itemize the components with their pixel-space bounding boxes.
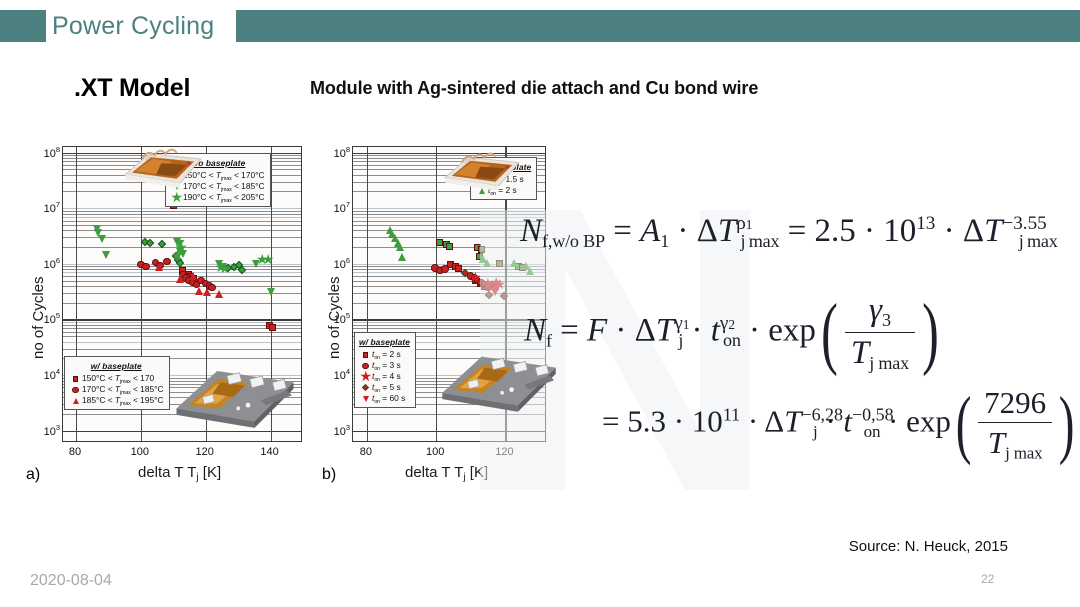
legend-item: ton = 60 s xyxy=(359,393,410,404)
panel-letter-b: b) xyxy=(322,466,336,484)
banner-title: Power Cycling xyxy=(46,14,214,39)
data-point xyxy=(195,287,203,295)
gridline xyxy=(63,221,301,222)
y-axis-tick: 108 xyxy=(28,145,60,160)
y-axis-tick: 103 xyxy=(318,423,350,438)
chart-panel-a: no of Cycles delta T Tj [K] a) w/o basep… xyxy=(22,132,322,492)
data-point xyxy=(491,288,499,296)
gridline xyxy=(353,230,545,231)
equation-3: = 5.3 · 1011 · ΔT−6,28j · t−0,58on · exp… xyxy=(602,381,1079,468)
y-axis-tick: 107 xyxy=(318,200,350,215)
data-point xyxy=(510,259,518,267)
page-subtitle: Module with Ag-sintered die attach and C… xyxy=(310,78,758,99)
equation-1: Nf,w/o BP = A1 · ΔTρ1j max = 2.5 · 1013 … xyxy=(520,213,1058,252)
y-axis-tick: 107 xyxy=(28,200,60,215)
data-point xyxy=(396,243,404,251)
legend-item-label: 185°C < Tjmax < 195°C xyxy=(82,394,164,408)
gridline xyxy=(353,237,545,238)
y-axis-tick: 105 xyxy=(318,311,350,326)
y-axis-tick: 104 xyxy=(28,367,60,382)
data-point xyxy=(441,265,449,273)
x-axis-tick: 80 xyxy=(350,446,382,458)
legend-marker xyxy=(69,395,82,406)
y-axis-tick: 106 xyxy=(318,256,350,271)
gridline xyxy=(353,431,545,432)
data-point xyxy=(436,239,443,246)
data-point xyxy=(176,275,184,283)
legend-title: w/ baseplate xyxy=(69,360,164,372)
marker-triangle-down-icon xyxy=(363,396,369,402)
equation-2: Nf = F · ΔTγ1j · tγ2on · exp(γ3Tj max) xyxy=(524,287,944,379)
die-attach-photo xyxy=(120,140,206,193)
data-point xyxy=(215,290,223,298)
y-axis-tick: 105 xyxy=(28,311,60,326)
data-point xyxy=(142,263,150,271)
gridline xyxy=(353,286,545,287)
gridline xyxy=(63,211,301,212)
x-axis-tick: 120 xyxy=(488,446,520,458)
gridline-tint xyxy=(63,217,301,218)
gridline xyxy=(353,414,545,415)
data-point xyxy=(189,272,197,280)
gridline xyxy=(353,225,545,226)
gridline-tint xyxy=(353,322,545,323)
marker-diamond-icon xyxy=(362,384,369,391)
header-banner-notch: Power Cycling xyxy=(46,10,236,42)
gridline xyxy=(353,328,545,329)
eq1-subscript: f,w/o BP xyxy=(542,231,605,251)
gridline xyxy=(63,319,301,320)
gridline xyxy=(353,214,545,215)
eq3-coefficient: 5.3 xyxy=(627,404,666,439)
data-point xyxy=(267,288,275,296)
data-point xyxy=(98,235,106,243)
gridline-tint xyxy=(353,208,545,209)
gridline-tint xyxy=(353,272,545,273)
gridline xyxy=(63,303,301,304)
data-point xyxy=(203,288,211,296)
marker-circle-icon xyxy=(72,387,78,393)
legend-marker xyxy=(359,371,372,382)
y-axis-tick: 108 xyxy=(318,145,350,160)
data-point xyxy=(269,324,276,331)
gridline xyxy=(63,214,301,215)
data-point xyxy=(496,260,503,267)
gridline xyxy=(353,221,545,222)
legend-item: 190°C < Tjmax < 205°C xyxy=(170,192,265,203)
gridline xyxy=(353,303,545,304)
eq1-power: 13 xyxy=(916,213,935,234)
die-attach-photo xyxy=(440,144,524,196)
data-point xyxy=(483,259,491,267)
footer-date: 2020-08-04 xyxy=(30,572,112,590)
legend-marker xyxy=(69,384,82,395)
data-point xyxy=(163,258,171,266)
legend-title: w/ baseplate xyxy=(359,336,410,348)
power-module-photo xyxy=(170,358,300,430)
x-axis-label-a: delta T Tj [K] xyxy=(138,464,221,483)
marker-square-icon xyxy=(73,376,79,382)
gridline xyxy=(353,281,545,282)
x-axis-tick: 100 xyxy=(419,446,451,458)
equations-block: Nf,w/o BP = A1 · ΔTρ1j max = 2.5 · 1013 … xyxy=(520,205,1072,505)
gridline-tint xyxy=(63,342,301,343)
legend-a-with-baseplate: w/ baseplate 150°C < Tjmax < 170170°C < … xyxy=(64,356,170,410)
legend-b-with-baseplate: w/ baseplate ton = 2 ston = 3 ston = 4 s… xyxy=(354,332,416,408)
y-axis-tick: 103 xyxy=(28,423,60,438)
legend-rows: 150°C < Tjmax < 170170°C < Tjmax < 185°C… xyxy=(69,373,164,406)
eq2-gamma: γ xyxy=(869,292,882,328)
x-axis-tick: 120 xyxy=(189,446,221,458)
gridline xyxy=(63,332,301,333)
x-axis-tick: 100 xyxy=(124,446,156,458)
gridline xyxy=(353,293,545,294)
y-axis-tick: 106 xyxy=(28,256,60,271)
gridline xyxy=(63,286,301,287)
page-title: .XT Model xyxy=(74,74,190,103)
gridline xyxy=(63,349,301,350)
eq1-coefficient: 2.5 xyxy=(814,213,855,249)
legend-marker xyxy=(359,349,372,360)
gridline xyxy=(63,293,301,294)
gridline xyxy=(353,325,545,326)
panel-letter-a: a) xyxy=(26,466,40,484)
gridline-tint xyxy=(353,217,545,218)
gridline xyxy=(353,319,545,320)
legend-marker xyxy=(359,393,372,404)
power-module-photo xyxy=(436,344,562,413)
marker-square-icon xyxy=(363,352,369,358)
eq2-F: F xyxy=(587,313,607,349)
data-point xyxy=(102,251,110,259)
data-point xyxy=(155,263,163,271)
gridline xyxy=(353,276,545,277)
x-axis-tick: 140 xyxy=(254,446,286,458)
source-credit: Source: N. Heuck, 2015 xyxy=(849,538,1008,555)
legend-marker xyxy=(170,192,183,203)
eq3-power: 11 xyxy=(723,404,740,424)
y-axis-tick: 104 xyxy=(318,367,350,382)
legend-item-label: ton = 60 s xyxy=(372,392,405,406)
gridline xyxy=(353,211,545,212)
gridline xyxy=(63,336,301,337)
x-axis-tick: 80 xyxy=(59,446,91,458)
gridline-tint xyxy=(63,208,301,209)
eq3-numer: 7296 xyxy=(978,385,1052,423)
gridline xyxy=(63,431,301,432)
data-point xyxy=(446,243,453,250)
x-axis-label-b: delta T Tj [K] xyxy=(405,464,488,483)
data-point xyxy=(398,253,406,261)
legend-item: 185°C < Tjmax < 195°C xyxy=(69,395,164,406)
legend-rows: ton = 2 ston = 3 ston = 4 ston = 5 ston … xyxy=(359,349,410,404)
marker-triangle-up-icon xyxy=(73,398,79,404)
page-number: 22 xyxy=(981,572,994,586)
legend-marker xyxy=(69,373,82,384)
legend-marker xyxy=(359,382,372,393)
